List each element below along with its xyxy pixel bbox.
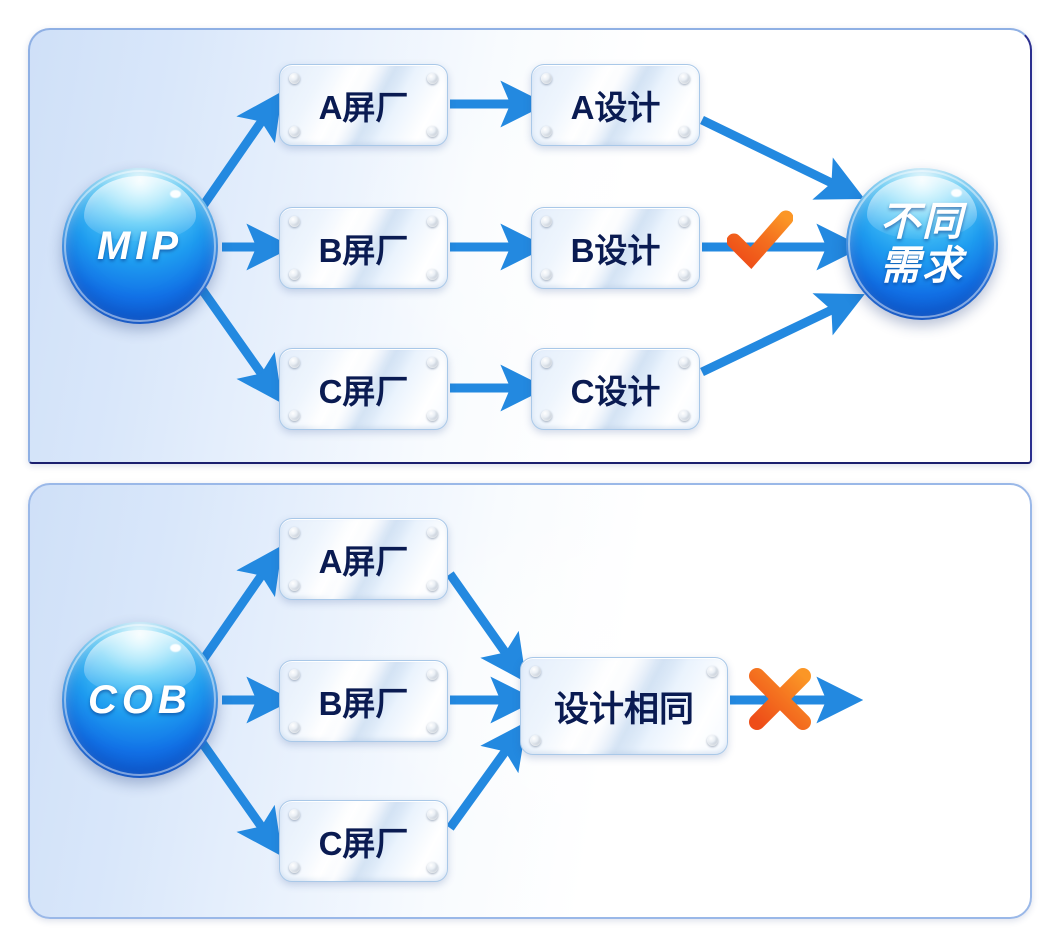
screw-icon	[289, 269, 300, 280]
screw-icon	[679, 357, 690, 368]
diagram-canvas: MIP A屏厂 B屏厂 C屏厂 A设计	[0, 0, 1063, 945]
screw-icon	[427, 862, 438, 873]
screw-icon	[289, 669, 300, 680]
screw-icon	[541, 357, 552, 368]
node-label: C屏厂	[319, 365, 409, 413]
screw-icon	[679, 269, 690, 280]
screw-icon	[427, 357, 438, 368]
screw-icon	[427, 580, 438, 591]
sphere-highlight	[170, 190, 181, 198]
screw-icon	[530, 735, 541, 746]
node-label: B设计	[571, 224, 661, 272]
screw-icon	[541, 269, 552, 280]
node-label: A设计	[571, 81, 661, 129]
screw-icon	[289, 580, 300, 591]
node-a-design[interactable]: A设计	[531, 64, 700, 146]
screw-icon	[289, 357, 300, 368]
screw-icon	[427, 73, 438, 84]
screw-icon	[289, 410, 300, 421]
node-label: A屏厂	[319, 81, 409, 129]
node-label: C设计	[571, 365, 661, 413]
screw-icon	[427, 669, 438, 680]
screw-icon	[427, 722, 438, 733]
node-b-factory-bottom[interactable]: B屏厂	[279, 660, 448, 742]
sphere-highlight	[951, 189, 962, 197]
node-mip-label: MIP	[97, 226, 183, 267]
screw-icon	[541, 216, 552, 227]
screw-icon	[679, 73, 690, 84]
screw-icon	[427, 216, 438, 227]
screw-icon	[679, 410, 690, 421]
screw-icon	[427, 126, 438, 137]
screw-icon	[427, 269, 438, 280]
node-label: 设计相同	[554, 681, 694, 732]
screw-icon	[289, 722, 300, 733]
node-b-design[interactable]: B设计	[531, 207, 700, 289]
screw-icon	[707, 666, 718, 677]
screw-icon	[541, 410, 552, 421]
node-c-design[interactable]: C设计	[531, 348, 700, 430]
screw-icon	[289, 809, 300, 820]
screw-icon	[530, 666, 541, 677]
screw-icon	[427, 410, 438, 421]
node-c-factory-bottom[interactable]: C屏厂	[279, 800, 448, 882]
screw-icon	[679, 126, 690, 137]
node-label: B屏厂	[319, 677, 409, 725]
screw-icon	[679, 216, 690, 227]
node-mip-sphere[interactable]: MIP	[62, 168, 218, 324]
node-c-factory-top[interactable]: C屏厂	[279, 348, 448, 430]
node-cob-label: COB	[88, 680, 192, 721]
screw-icon	[289, 862, 300, 873]
sphere-highlight	[170, 644, 181, 652]
node-need-label-top: 不同需求	[880, 200, 964, 288]
screw-icon	[289, 126, 300, 137]
screw-icon	[541, 126, 552, 137]
screw-icon	[289, 527, 300, 538]
node-cob-sphere[interactable]: COB	[62, 622, 218, 778]
screw-icon	[707, 735, 718, 746]
node-b-factory-top[interactable]: B屏厂	[279, 207, 448, 289]
node-a-factory-bottom[interactable]: A屏厂	[279, 518, 448, 600]
screw-icon	[427, 809, 438, 820]
node-a-factory-top[interactable]: A屏厂	[279, 64, 448, 146]
node-label: B屏厂	[319, 224, 409, 272]
screw-icon	[427, 527, 438, 538]
screw-icon	[289, 216, 300, 227]
screw-icon	[289, 73, 300, 84]
node-label: C屏厂	[319, 817, 409, 865]
screw-icon	[541, 73, 552, 84]
node-same-design[interactable]: 设计相同	[520, 657, 728, 755]
node-label: A屏厂	[319, 535, 409, 583]
node-need-sphere-top[interactable]: 不同需求	[846, 168, 998, 320]
